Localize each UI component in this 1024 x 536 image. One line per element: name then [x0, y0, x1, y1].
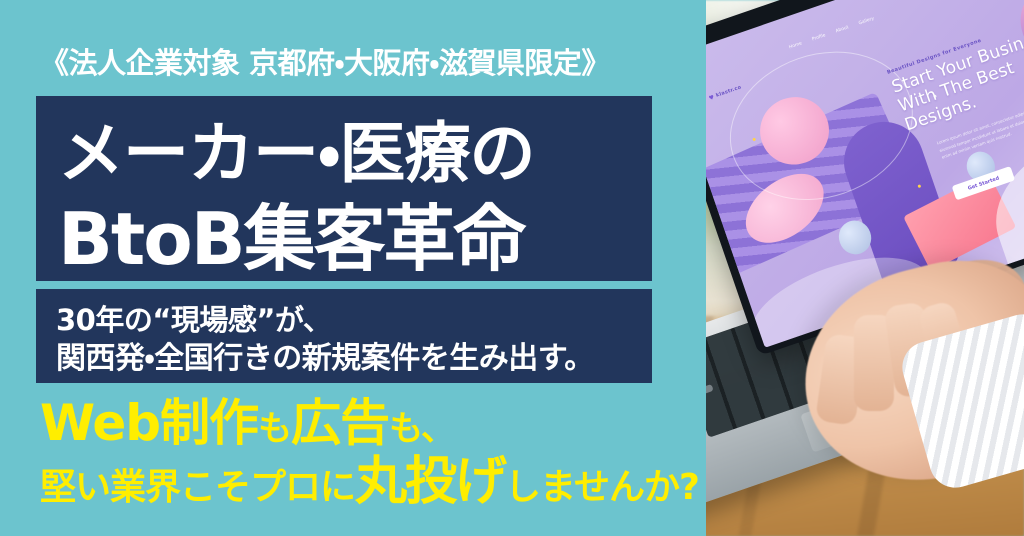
cta-web-seisaku: Web制作 — [40, 394, 258, 452]
cta-marunage: 丸投げ — [355, 456, 505, 508]
promo-banner: ♥ klastr.co Home Profile About Gallery C… — [0, 0, 1024, 536]
mockup-nav-item-profile[interactable]: Profile — [811, 33, 826, 42]
cta-line-2: 堅い業界こそプロに丸投げしませんか? — [40, 456, 700, 508]
title-box: メーカー・医療の BtoB集客革命 — [36, 96, 652, 281]
kicker-text: 《法人企業対象 京都府・大阪府・滋賀県限定》 — [40, 40, 680, 82]
mockup-logo-text: klastr.co — [715, 85, 742, 99]
mockup-nav-item-gallery[interactable]: Gallery — [858, 16, 875, 26]
text-panel: 《法人企業対象 京都府・大阪府・滋賀県限定》 メーカー・医療の BtoB集客革命… — [0, 0, 706, 536]
cta-shimasenka: しませんか? — [505, 470, 699, 506]
mockup-nav[interactable]: Home Profile About Gallery — [788, 16, 874, 50]
mockup-nav-item-about[interactable]: About — [835, 25, 849, 34]
cta-text: Web制作も広告も、 堅い業界こそプロに丸投げしませんか? — [40, 398, 700, 508]
mockup-nav-item-home[interactable]: Home — [788, 41, 802, 50]
cta-koukoku: 広告 — [291, 394, 389, 452]
title-line-2: BtoB集客革命 — [58, 180, 524, 285]
cta-line-1: Web制作も広告も、 — [40, 398, 700, 448]
cta-mo-2: も、 — [389, 409, 454, 449]
subtitle-line-2: 関西発・全国行きの新規案件を生み出す。 — [56, 333, 594, 377]
heart-icon: ♥ — [708, 94, 716, 102]
mockup-logo[interactable]: ♥ klastr.co — [708, 84, 743, 102]
subtitle-box: 30年の“現場感”が、 関西発・全国行きの新規案件を生み出す。 — [36, 289, 652, 383]
cta-katai-gyoukai: 堅い業界こそプロに — [40, 470, 355, 506]
cta-mo-1: も — [258, 409, 291, 449]
